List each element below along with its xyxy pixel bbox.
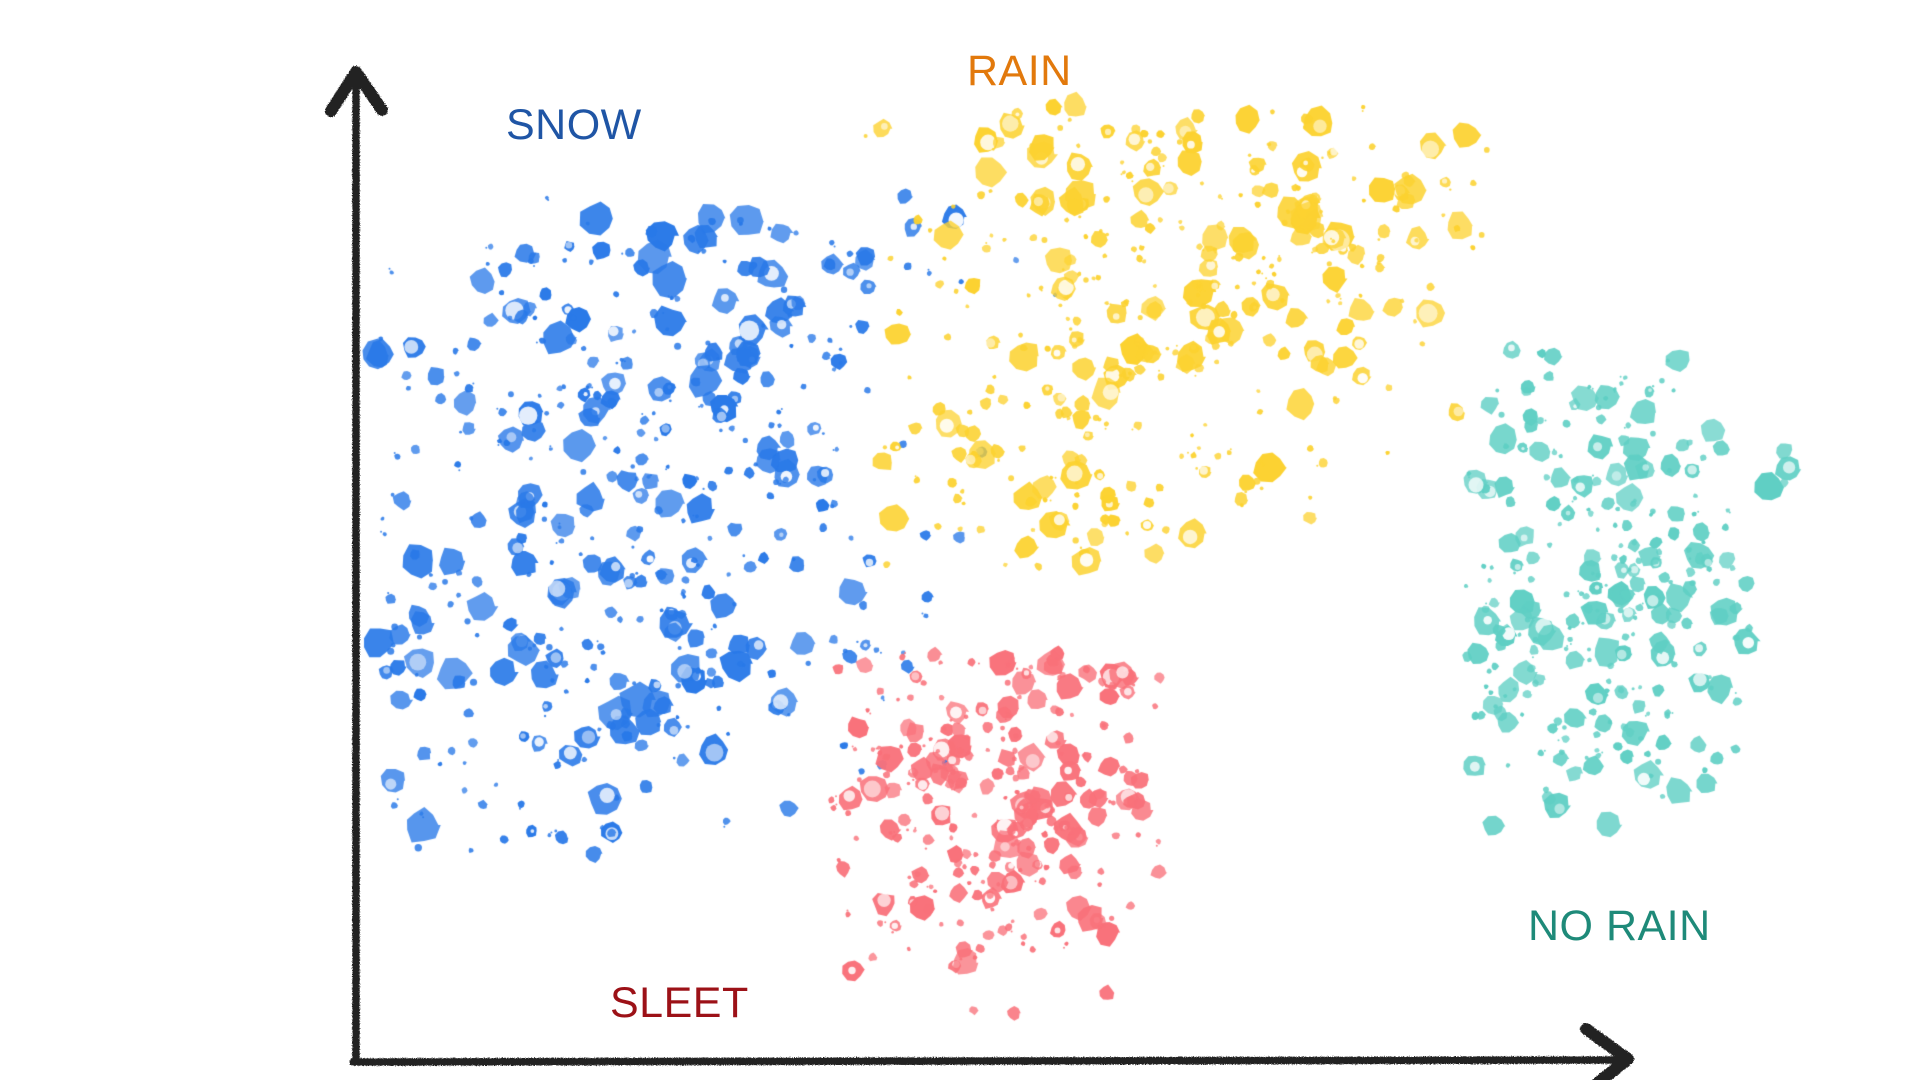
scatter-plot-figure: SNOW RAIN SLEET NO RAIN <box>0 0 1920 1080</box>
cluster-label-rain: RAIN <box>967 50 1072 93</box>
cluster-label-snow: SNOW <box>506 104 642 147</box>
cluster-label-no-rain: NO RAIN <box>1528 905 1711 948</box>
cluster-label-sleet: SLEET <box>610 982 749 1025</box>
